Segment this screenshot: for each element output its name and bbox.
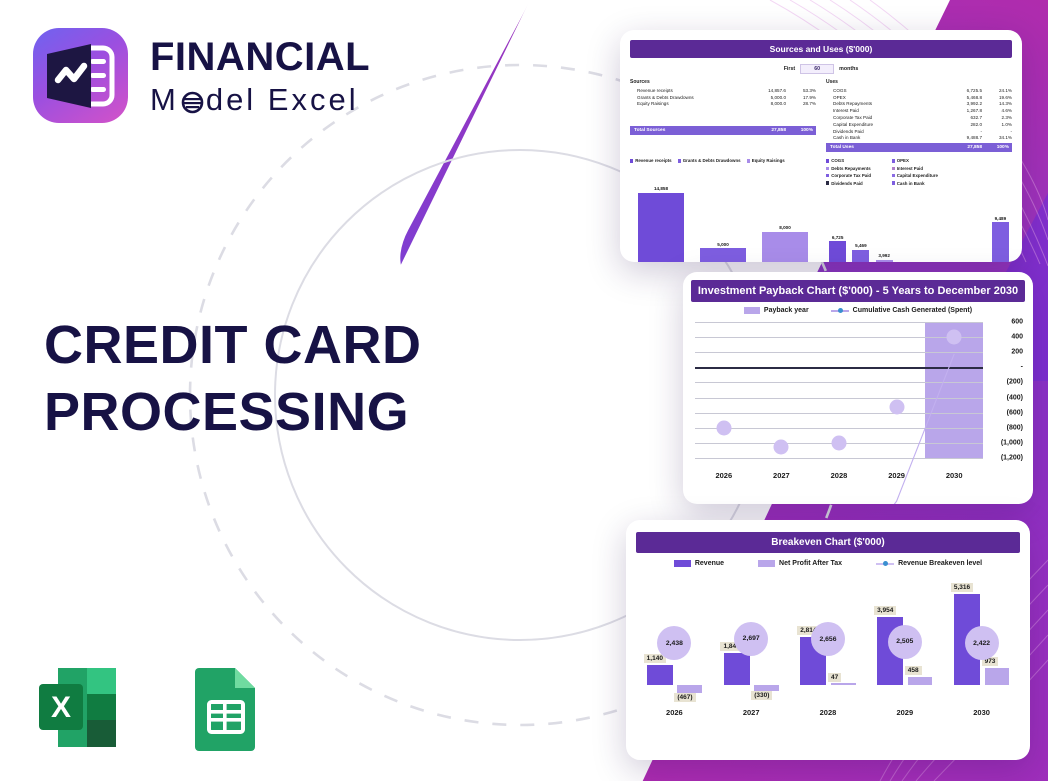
table-row: COGS 6,725.5 24.1% [826, 87, 1012, 94]
x-axis-tick-label: 2030 [925, 471, 983, 480]
total-uses-row: Total Uses 27,858 100% [826, 143, 1012, 152]
table-row: Grants & Debts Drawdowns 5,000.0 17.9% [630, 94, 816, 101]
sources-chart-legend: Revenue receiptsGrants & Debts Drawdowns… [630, 157, 816, 164]
bar [829, 241, 846, 262]
net-profit-bar [985, 668, 1010, 685]
x-axis-tick-label: 2028 [810, 471, 868, 480]
bar-column: 3,992 [873, 191, 896, 262]
breakeven-level-bubble: 2,422 [965, 626, 999, 660]
sources-bar-chart: 14,8585,0008,000 [630, 169, 816, 262]
breakeven-column: 5,3169732,422 [943, 569, 1020, 719]
brand-o-glyph-icon [181, 88, 204, 111]
payback-plot-area [695, 322, 983, 458]
data-point [889, 399, 904, 414]
compatible-apps: X [30, 660, 272, 755]
bar [852, 250, 869, 262]
brand-subtitle-after: del Excel [206, 84, 359, 115]
legend-item: Dividends Paid [826, 181, 886, 186]
breakeven-level-bubble: 2,505 [888, 625, 922, 659]
brand-subtitle-before: M [150, 84, 179, 115]
legend-swatch-icon [892, 174, 895, 177]
legend-label: Corporate Tax Paid [831, 173, 871, 178]
bar-column: 6,725 [826, 191, 849, 262]
data-point [774, 439, 789, 454]
bar [700, 248, 746, 262]
legend-swatch-icon [892, 167, 895, 170]
bar-value-label: 5,469 [855, 243, 867, 248]
table-row: Equity Raisings 8,000.0 28.7% [630, 101, 816, 108]
breakeven-chart-body: 1,140(467)2,4381,848(330)2,6972,814472,6… [636, 569, 1020, 719]
y-axis-tick-label: (400) [1007, 394, 1023, 401]
legend-item-cumulative-cash: Cumulative Cash Generated (Spent) [831, 307, 972, 314]
legend-item-payback-year: Payback year [744, 307, 809, 314]
bar-column: 633 [919, 191, 942, 262]
legend-swatch-icon [678, 159, 681, 162]
breakeven-level-bubble: 2,697 [734, 622, 768, 656]
legend-label: COGS [831, 158, 844, 163]
uses-bar-chart: 6,7255,4693,9921,26863328209,489 [826, 191, 1012, 262]
bar-value-label: 14,858 [654, 186, 668, 191]
bar-value-label: 6,725 [832, 235, 844, 240]
page-title: CREDIT CARD PROCESSING [44, 312, 422, 446]
y-axis-tick-label: (1,000) [1001, 439, 1023, 446]
period-months-input[interactable]: 60 [800, 64, 834, 74]
bar-column: 9,489 [989, 191, 1012, 262]
data-point [947, 330, 962, 345]
revenue-value-label: 5,316 [951, 583, 973, 592]
bar [762, 232, 808, 263]
payback-x-axis: 20262027202820292030 [695, 471, 983, 480]
bar-value-label: 3,992 [878, 253, 890, 258]
legend-label: Revenue receipts [635, 158, 671, 163]
table-row: Cash in Bank 9,488.7 34.1% [826, 134, 1012, 141]
legend-label: Capital Expenditure [897, 173, 938, 178]
net-profit-bar [908, 677, 933, 685]
y-axis-tick-label: (1,200) [1001, 455, 1023, 462]
legend-item: OPEX [892, 158, 952, 163]
table-row: OPEX 5,468.8 19.6% [826, 94, 1012, 101]
sources-and-uses-title: Sources and Uses ($'000) [630, 40, 1012, 58]
net-profit-value-label: (330) [751, 691, 772, 700]
net-profit-value-label: 47 [828, 673, 841, 682]
svg-text:X: X [51, 691, 71, 724]
bar-value-label: 9,489 [995, 216, 1007, 221]
legend-line-marker-icon [876, 563, 894, 565]
table-row: Interest Paid 1,267.8 4.6% [826, 107, 1012, 114]
microsoft-excel-icon: X [30, 660, 125, 755]
page-title-line2: PROCESSING [44, 379, 422, 446]
legend-swatch-icon [826, 159, 829, 162]
bar [876, 260, 893, 262]
net-profit-value-label: (467) [674, 693, 695, 702]
y-axis-tick-label: (600) [1007, 409, 1023, 416]
breakeven-column: 3,9544582,505 [866, 569, 943, 719]
breakeven-bar-columns: 1,140(467)2,4381,848(330)2,6972,814472,6… [636, 569, 1020, 719]
revenue-value-label: 3,954 [874, 606, 896, 615]
legend-item-npat: Net Profit After Tax [758, 560, 842, 567]
x-axis-tick-label: 2026 [695, 471, 753, 480]
bar-column: 1,268 [896, 191, 919, 262]
breakeven-column: 2,814472,656 [790, 569, 867, 719]
breakeven-x-axis: 20262027202820292030 [636, 708, 1020, 717]
legend-swatch-icon [744, 307, 760, 314]
bar-column: 8,000 [754, 169, 816, 262]
x-axis-tick-label: 2026 [636, 708, 713, 717]
legend-swatch-icon [892, 181, 895, 184]
bar-column: 5,000 [692, 169, 754, 262]
uses-chart-legend: COGSOPEXDebts RepaymentsInterest PaidCor… [826, 157, 1012, 187]
bar [638, 193, 684, 262]
payback-chart-body: 600400200-(200)(400)(600)(800)(1,000)(1,… [691, 318, 1025, 482]
poster-canvas: FINANCIAL M del Excel CREDIT CARD PROCES… [0, 0, 1048, 781]
bar [992, 222, 1009, 262]
legend-item: Debts Repayments [826, 166, 886, 171]
x-axis-tick-label: 2028 [790, 708, 867, 717]
legend-swatch-icon [758, 560, 775, 567]
legend-item: Revenue receipts [630, 158, 672, 163]
breakeven-column: 1,848(330)2,697 [713, 569, 790, 719]
legend-line-marker-icon [831, 310, 849, 312]
net-profit-bar [831, 683, 856, 685]
bar-column: 14,858 [630, 169, 692, 262]
net-profit-value-label: 458 [905, 666, 922, 675]
sources-rows: Revenue receipts 14,857.6 53.3% Grants &… [630, 87, 816, 107]
brand-title: FINANCIAL [150, 37, 370, 77]
legend-swatch-icon [630, 159, 633, 162]
legend-item: Interest Paid [892, 166, 952, 171]
x-axis-tick-label: 2029 [868, 471, 926, 480]
table-row: Dividends Paid - - [826, 128, 1012, 135]
y-axis-tick-label: (800) [1007, 424, 1023, 431]
table-row: Debts Repayments 3,992.2 14.3% [826, 101, 1012, 108]
breakeven-panel: Breakeven Chart ($'000) Revenue Net Prof… [626, 520, 1030, 760]
y-axis-tick-label: 400 [1011, 334, 1023, 341]
data-point [716, 420, 731, 435]
legend-label: OPEX [897, 158, 909, 163]
x-axis-tick-label: 2027 [713, 708, 790, 717]
payback-chart-legend: Payback year Cumulative Cash Generated (… [691, 307, 1025, 314]
legend-item: COGS [826, 158, 886, 163]
google-sheets-icon [177, 660, 272, 755]
investment-payback-title: Investment Payback Chart ($'000) - 5 Yea… [691, 280, 1025, 302]
legend-item: Capital Expenditure [892, 173, 952, 178]
period-prefix-label: First [784, 66, 795, 72]
uses-rows: COGS 6,725.5 24.1% OPEX 5,468.8 19.6% De… [826, 87, 1012, 141]
legend-label: Cash in Bank [897, 181, 925, 186]
bar-column: 282 [942, 191, 965, 262]
y-axis-tick-label: - [1021, 364, 1023, 371]
table-row: Revenue receipts 14,857.6 53.3% [630, 87, 816, 94]
legend-swatch-icon [826, 167, 829, 170]
uses-column: Uses COGS 6,725.5 24.1% OPEX 5,468.8 19.… [826, 79, 1012, 152]
sources-chart-area: Revenue receiptsGrants & Debts Drawdowns… [630, 157, 816, 262]
legend-label: Interest Paid [897, 166, 923, 171]
total-sources-row: Total Sources 27,858 100% [630, 126, 816, 135]
payback-y-axis: 600400200-(200)(400)(600)(800)(1,000)(1,… [983, 322, 1023, 458]
y-axis-tick-label: 200 [1011, 349, 1023, 356]
breakeven-level-bubble: 2,438 [657, 626, 691, 660]
legend-swatch-icon [674, 560, 691, 567]
legend-swatch-icon [747, 159, 750, 162]
legend-item-breakeven-level: Revenue Breakeven level [876, 560, 982, 567]
legend-swatch-icon [826, 181, 829, 184]
breakeven-level-bubble: 2,656 [811, 622, 845, 656]
legend-label: Dividends Paid [831, 181, 862, 186]
uses-header: Uses [826, 79, 1012, 85]
net-profit-bar [677, 685, 702, 693]
period-suffix-label: months [839, 66, 858, 72]
table-row: Capital Expenditure 282.0 1.0% [826, 121, 1012, 128]
legend-item: Cash in Bank [892, 181, 952, 186]
period-selector-row: First 60 months [630, 64, 1012, 74]
data-point [832, 435, 847, 450]
revenue-bar [724, 653, 750, 685]
uses-chart-area: COGSOPEXDebts RepaymentsInterest PaidCor… [826, 157, 1012, 262]
breakeven-column: 1,140(467)2,438 [636, 569, 713, 719]
legend-label: Grants & Debts Drawdowns [683, 158, 741, 163]
legend-swatch-icon [826, 174, 829, 177]
investment-payback-panel: Investment Payback Chart ($'000) - 5 Yea… [683, 272, 1033, 504]
revenue-bar [647, 665, 673, 685]
bar-value-label: 8,000 [779, 225, 791, 230]
legend-swatch-icon [892, 159, 895, 162]
bar-column: 0 [966, 191, 989, 262]
x-axis-tick-label: 2029 [866, 708, 943, 717]
legend-label: Equity Raisings [752, 158, 785, 163]
financial-model-logo-icon [33, 28, 128, 123]
legend-item: Corporate Tax Paid [826, 173, 886, 178]
sources-header: Sources [630, 79, 816, 85]
sources-and-uses-panel: Sources and Uses ($'000) First 60 months… [620, 30, 1022, 262]
legend-label: Debts Repayments [831, 166, 871, 171]
y-axis-tick-label: (200) [1007, 379, 1023, 386]
y-axis-tick-label: 600 [1011, 319, 1023, 326]
sources-uses-table: Sources Revenue receipts 14,857.6 53.3% … [630, 79, 1012, 152]
legend-item: Grants & Debts Drawdowns [678, 158, 741, 163]
brand-subtitle: M del Excel [150, 84, 370, 115]
x-axis-tick-label: 2030 [943, 708, 1020, 717]
breakeven-chart-legend: Revenue Net Profit After Tax Revenue Bre… [636, 560, 1020, 567]
page-title-line1: CREDIT CARD [44, 312, 422, 379]
bar-value-label: 5,000 [717, 242, 729, 247]
brand-logo: FINANCIAL M del Excel [33, 28, 370, 123]
table-row: Corporate Tax Paid 632.7 2.3% [826, 114, 1012, 121]
breakeven-title: Breakeven Chart ($'000) [636, 532, 1020, 553]
x-axis-tick-label: 2027 [753, 471, 811, 480]
sources-column: Sources Revenue receipts 14,857.6 53.3% … [630, 79, 816, 152]
bar-column: 5,469 [849, 191, 872, 262]
legend-item-revenue: Revenue [674, 560, 724, 567]
legend-item: Equity Raisings [747, 158, 785, 163]
